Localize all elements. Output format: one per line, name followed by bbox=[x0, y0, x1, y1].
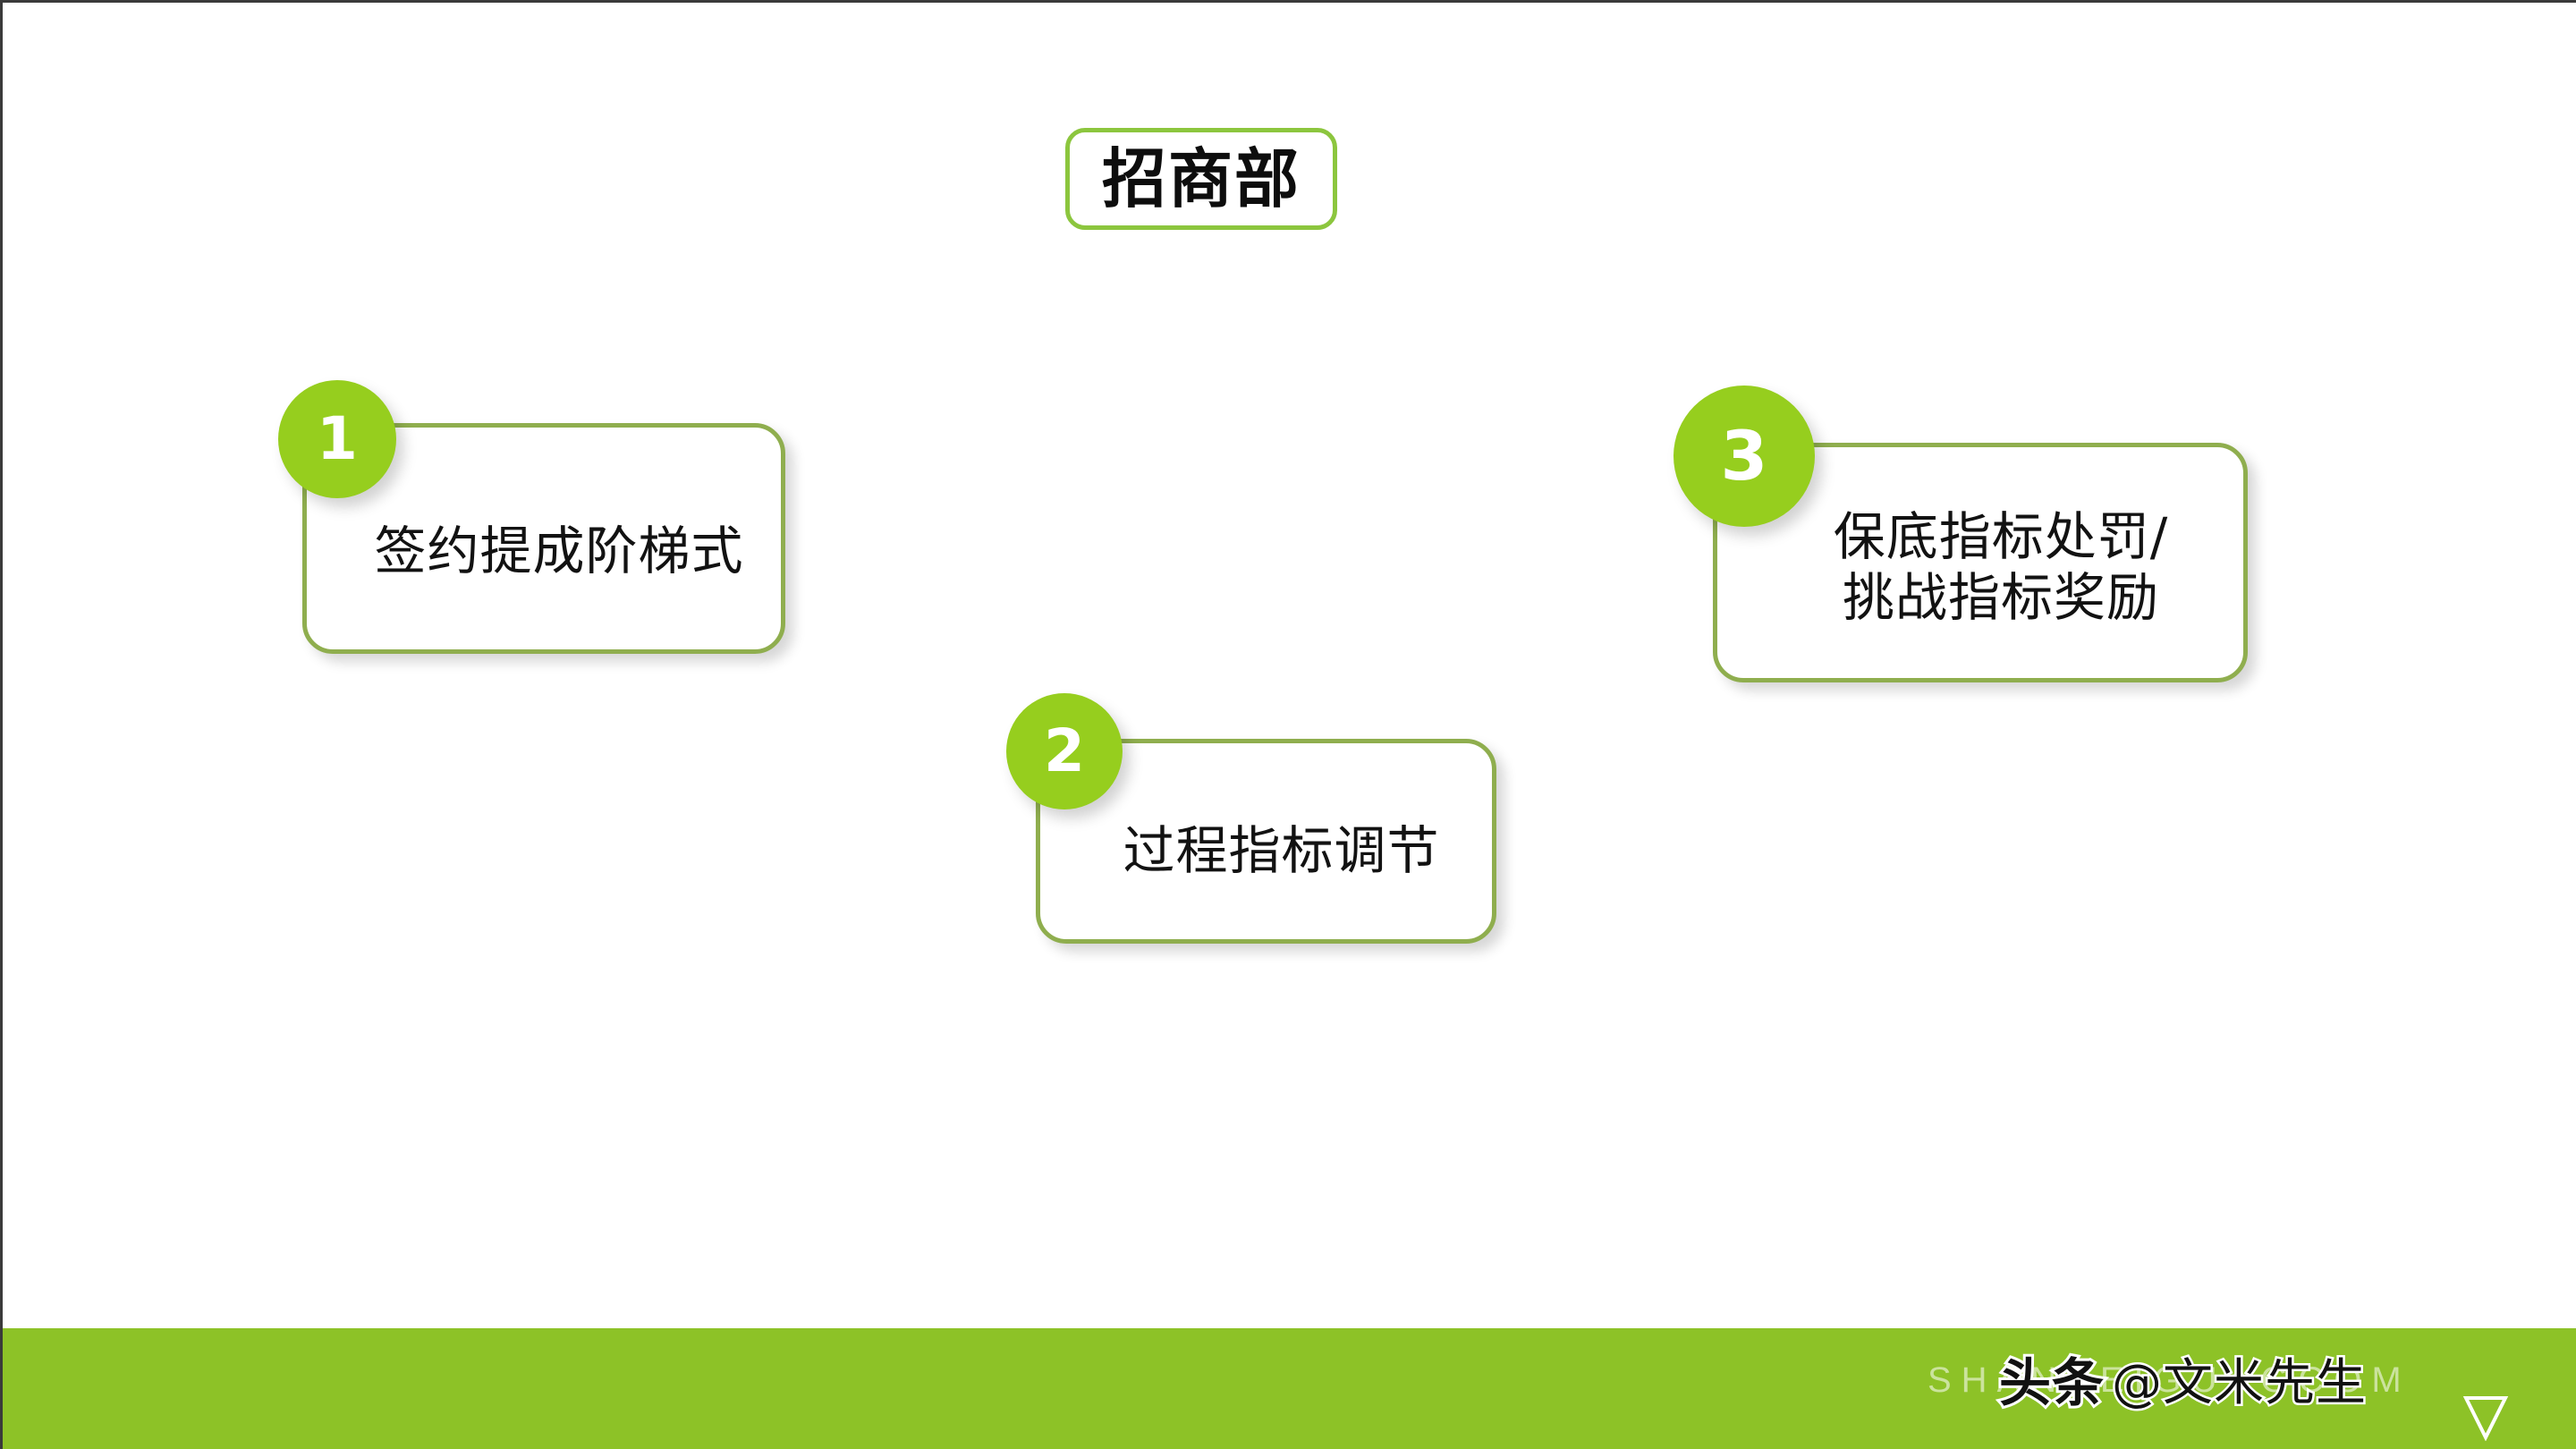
slide-canvas: 招商部 签约提成阶梯式 1 过程指标调节 2 保底指标处罚/ 挑战指标奖励 3 … bbox=[0, 0, 2576, 1449]
content-card-1-label: 签约提成阶梯式 bbox=[307, 521, 781, 581]
watermark-logo: 头条 bbox=[1999, 1341, 2105, 1416]
watermark-handle: @文米先生 bbox=[2112, 1343, 2367, 1415]
step-badge-3[interactable]: 3 bbox=[1674, 386, 1815, 527]
step-badge-1-number: 1 bbox=[317, 410, 358, 469]
verified-check-icon bbox=[2462, 1394, 2509, 1441]
step-badge-3-number: 3 bbox=[1721, 422, 1768, 490]
content-card-3-label: 保底指标处罚/ 挑战指标奖励 bbox=[1717, 506, 2243, 629]
watermark: 头条 @文米先生 bbox=[1999, 1341, 2367, 1416]
step-badge-2[interactable]: 2 bbox=[1006, 693, 1123, 809]
page-title-box: 招商部 bbox=[1065, 128, 1337, 230]
page-title: 招商部 bbox=[1102, 147, 1301, 211]
step-badge-1[interactable]: 1 bbox=[278, 380, 396, 498]
content-card-2-label: 过程指标调节 bbox=[1040, 820, 1492, 881]
step-badge-2-number: 2 bbox=[1044, 722, 1085, 781]
